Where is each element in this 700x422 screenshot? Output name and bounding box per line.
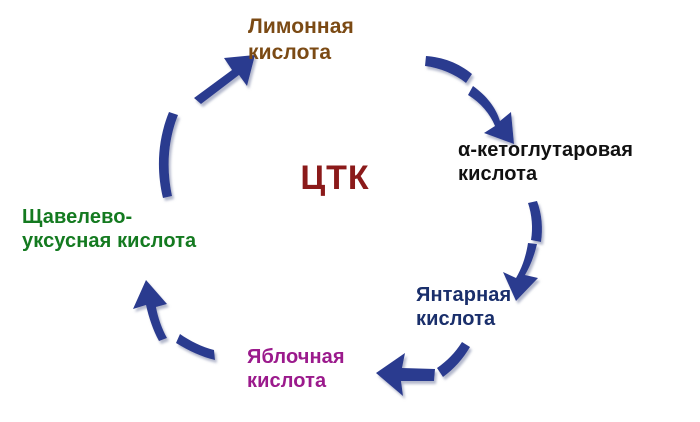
arc-segment-right — [528, 201, 542, 242]
arc-segment-bottom-left — [176, 334, 215, 360]
arrow-to-citric — [194, 55, 255, 104]
node-label-succinic-acid: Янтарная кислота — [416, 283, 606, 332]
node-label-citric-acid: Лимонная кислота — [248, 14, 438, 65]
arc-segment-bottom-right — [437, 342, 470, 377]
citric-acid-cycle-diagram: Лимонная кислота α-кетоглутаровая кислот… — [0, 0, 700, 422]
arc-segment-left — [159, 112, 178, 198]
arrow-to-ketoglutaric — [468, 86, 514, 144]
arrow-to-oxaloacetic — [133, 280, 167, 341]
diagram-center-title: ЦТК — [270, 158, 400, 199]
node-label-alpha-ketoglutaric-acid: α-кетоглутаровая кислота — [458, 138, 698, 187]
node-label-oxaloacetic-acid: Щавелево- уксусная кислота — [22, 205, 282, 254]
node-label-malic-acid: Яблочная кислота — [247, 345, 432, 394]
